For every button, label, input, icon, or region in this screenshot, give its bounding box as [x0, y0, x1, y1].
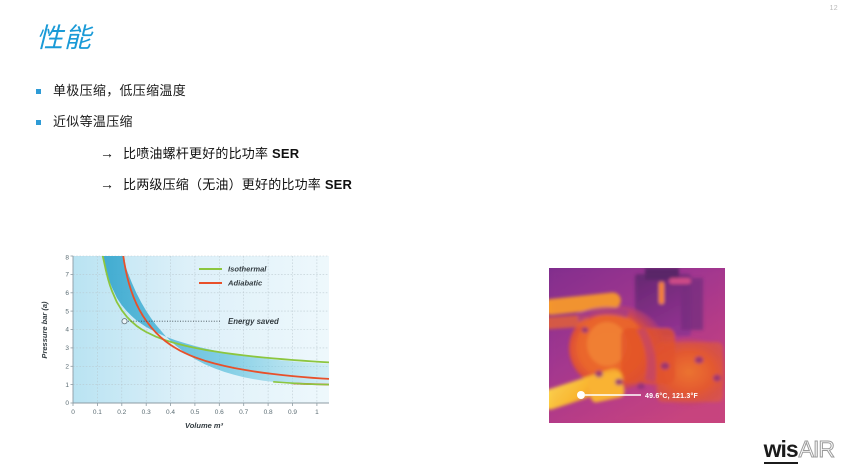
- chart-x-axis-label: Volume m³: [185, 421, 224, 430]
- svg-text:1: 1: [65, 382, 69, 389]
- svg-text:1: 1: [315, 409, 319, 416]
- svg-text:2: 2: [65, 364, 69, 371]
- svg-text:0.7: 0.7: [239, 409, 248, 416]
- chart-x-tick-marks: [73, 403, 317, 406]
- list-item: → 比喷油螺杆更好的比功率 SER: [100, 145, 620, 163]
- pressure-volume-chart: 0 1 2 3 4 5 6 7 8 0 0.1 0.2 0.3: [36, 250, 341, 442]
- thermal-measurement-dot: [577, 391, 585, 399]
- svg-text:6: 6: [65, 290, 69, 297]
- sub-bullet-text: 比两级压缩（无油）更好的比功率 SER: [123, 177, 352, 194]
- logo-text-air: AIR: [799, 438, 834, 461]
- bullet-list: 单极压缩，低压缩温度 近似等温压缩: [36, 82, 516, 143]
- svg-text:0.6: 0.6: [215, 409, 224, 416]
- sub-bullet-list: → 比喷油螺杆更好的比功率 SER → 比两级压缩（无油）更好的比功率 SER: [100, 145, 620, 207]
- sub-bullet-text-emphasis: SER: [272, 146, 299, 161]
- square-bullet-icon: [36, 89, 41, 94]
- sub-bullet-text: 比喷油螺杆更好的比功率 SER: [123, 146, 299, 163]
- svg-text:0.8: 0.8: [264, 409, 273, 416]
- svg-text:5: 5: [65, 308, 69, 315]
- brand-logo: wis AIR: [764, 438, 834, 464]
- sub-bullet-text-emphasis: SER: [325, 177, 352, 192]
- energy-saved-marker: [122, 319, 127, 324]
- sub-bullet-text-main: 比喷油螺杆更好的比功率: [123, 146, 272, 161]
- list-item: 近似等温压缩: [36, 113, 516, 131]
- svg-text:0.5: 0.5: [190, 409, 199, 416]
- arrow-right-icon: →: [100, 176, 114, 193]
- legend-label-adiabatic: Adiabatic: [227, 279, 263, 288]
- bullet-text: 近似等温压缩: [53, 113, 133, 131]
- chart-x-tick-labels: 0 0.1 0.2 0.3 0.4 0.5 0.6 0.7 0.8 0.9 1: [71, 409, 319, 416]
- legend-label-isothermal: Isothermal: [228, 265, 267, 274]
- svg-text:0.4: 0.4: [166, 409, 175, 416]
- sub-bullet-text-main: 比两级压缩（无油）更好的比功率: [123, 177, 325, 192]
- square-bullet-icon: [36, 120, 41, 125]
- svg-text:0: 0: [65, 400, 69, 407]
- thermal-image: 49.6°C, 121.3°F: [549, 268, 725, 423]
- svg-text:0.9: 0.9: [288, 409, 297, 416]
- chart-y-axis-label: Pressure bar (a): [40, 301, 49, 359]
- svg-text:7: 7: [65, 272, 69, 279]
- svg-text:0.3: 0.3: [142, 409, 151, 416]
- chart-y-tick-labels: 0 1 2 3 4 5 6 7 8: [65, 255, 69, 408]
- list-item: 单极压缩，低压缩温度: [36, 82, 516, 100]
- svg-text:0.2: 0.2: [117, 409, 126, 416]
- bullet-text: 单极压缩，低压缩温度: [53, 82, 186, 100]
- arrow-right-icon: →: [100, 145, 114, 162]
- thermal-measurement-label: 49.6°C, 121.3°F: [645, 392, 698, 400]
- svg-text:4: 4: [65, 327, 69, 334]
- list-item: → 比两级压缩（无油）更好的比功率 SER: [100, 176, 620, 194]
- thermal-haze: [549, 268, 725, 423]
- svg-text:3: 3: [65, 345, 69, 352]
- page-title: 性能: [36, 24, 92, 54]
- svg-text:8: 8: [65, 255, 69, 262]
- svg-text:0: 0: [71, 409, 75, 416]
- energy-saved-label: Energy saved: [228, 317, 279, 326]
- svg-text:0.1: 0.1: [93, 409, 102, 416]
- page-number: 12: [830, 5, 838, 12]
- logo-text-wis: wis: [764, 438, 798, 464]
